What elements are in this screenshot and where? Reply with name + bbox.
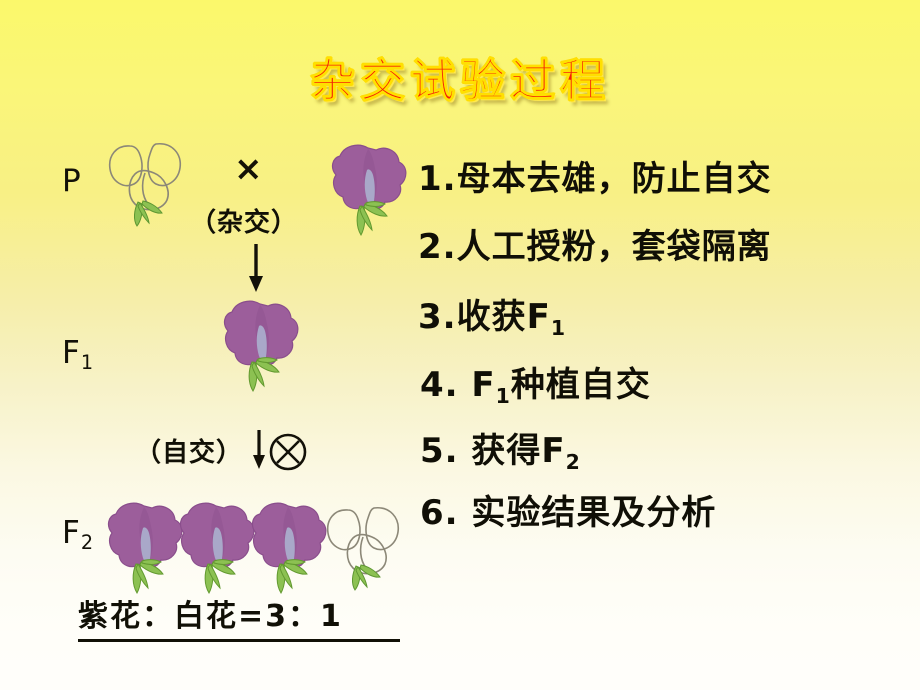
generation-label-p: P: [62, 166, 81, 197]
ratio-block: 紫花：白花=3：1: [78, 600, 403, 642]
step-5-subscript: 2: [566, 450, 581, 474]
down-arrow-f1-to-f2: [248, 430, 270, 470]
generation-label-f1-text: F: [62, 335, 80, 371]
step-5-number: 5.: [420, 431, 459, 471]
cross-symbol: ×: [234, 152, 263, 186]
step-6-number: 6.: [420, 493, 459, 533]
step-1-text: 母本去雄，防止自交: [457, 159, 772, 199]
sepal-green: [134, 201, 162, 226]
generation-label-f1: F1: [62, 338, 92, 369]
procedure-step-5: 5. 获得F2: [420, 434, 581, 468]
sepal-green: [352, 565, 380, 590]
step-5-text: 获得F: [459, 431, 566, 471]
white-flower-p: [104, 136, 186, 228]
step-3-text: 收获F: [457, 297, 551, 337]
step-2-number: 2.: [418, 227, 457, 267]
purple-flower-p: [330, 142, 410, 238]
generation-label-p-text: P: [62, 163, 81, 199]
page-title: 杂交试验过程: [0, 44, 920, 109]
purple-flower-f1: [222, 298, 302, 394]
step-4-text-after: 种植自交: [511, 365, 651, 405]
generation-label-f2: F2: [62, 518, 92, 549]
generation-label-f1-sub: 1: [81, 351, 93, 374]
phenotype-ratio-text: 紫花：白花=3：1: [78, 600, 403, 635]
generation-label-f2-sub: 2: [81, 531, 93, 554]
petal-group: [225, 301, 298, 365]
selfing-symbol-circled-x: [268, 432, 308, 472]
purple-flower-f2-1: [106, 500, 186, 596]
purple-flower-f2-2: [178, 500, 258, 596]
petal-group: [181, 503, 254, 567]
step-1-number: 1.: [418, 159, 457, 199]
step-3-subscript: 1: [551, 316, 566, 340]
slide-canvas: 杂交试验过程 P × （杂交）: [0, 0, 920, 690]
procedure-step-3: 3.收获F1: [418, 300, 566, 334]
step-4-number: 4.: [420, 365, 459, 405]
ratio-underline: [78, 639, 400, 642]
petal-group: [109, 503, 182, 567]
procedure-step-1: 1.母本去雄，防止自交: [418, 162, 772, 196]
step-4-subscript: 1: [496, 384, 511, 408]
procedure-step-4: 4. F1种植自交: [420, 368, 651, 402]
procedure-step-6: 6. 实验结果及分析: [420, 496, 716, 530]
purple-flower-f2-3: [250, 500, 330, 596]
procedure-step-2: 2.人工授粉，套袋隔离: [418, 230, 772, 264]
petal-group: [253, 503, 326, 567]
step-2-text: 人工授粉，套袋隔离: [457, 227, 772, 267]
step-6-text: 实验结果及分析: [459, 493, 717, 533]
step-3-number: 3.: [418, 297, 457, 337]
white-flower-f2-4: [322, 500, 404, 592]
self-cross-label: （自交）: [135, 432, 243, 469]
petal-group: [333, 145, 406, 209]
down-arrow-p-to-f1: [244, 244, 268, 294]
cross-label: （杂交）: [190, 202, 298, 239]
generation-label-f2-text: F: [62, 515, 80, 551]
step-4-text-before: F: [459, 365, 496, 405]
